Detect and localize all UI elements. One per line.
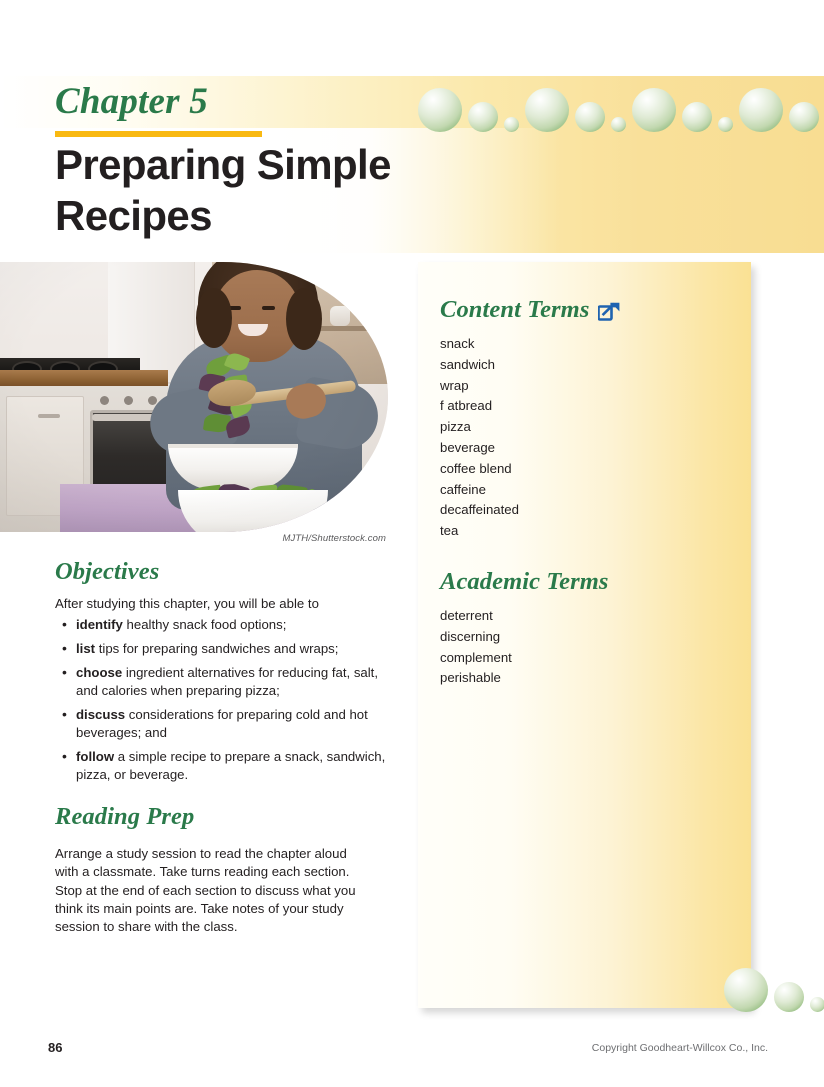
objectives-section: Objectives After studying this chapter, … <box>55 558 395 790</box>
photo-credit: MJTH/Shutterstock.com <box>0 533 386 544</box>
objectives-lead: After studying this chapter, you will be… <box>55 595 395 613</box>
content-terms-heading: Content Terms <box>440 296 589 324</box>
textbook-page: Chapter 5 Preparing Simple Recipes <box>0 0 824 1087</box>
content-term-item: snack <box>440 334 727 355</box>
decorative-bubble <box>774 982 804 1012</box>
decorative-bubble <box>789 102 819 132</box>
chapter-photo-image <box>0 262 388 532</box>
academic-terms-list: deterrentdiscerningcomplementperishable <box>440 606 727 689</box>
decorative-bubble <box>682 102 712 132</box>
content-terms-list: snacksandwichwrapf atbreadpizzabeveragec… <box>440 334 727 542</box>
title-rule <box>55 131 262 137</box>
objective-lead-word: discuss <box>76 707 125 722</box>
content-term-item: sandwich <box>440 355 727 376</box>
academic-term-item: discerning <box>440 627 727 648</box>
photo-vignette <box>0 262 388 532</box>
terms-panel: Content Terms snacksandwichwrapf atbread… <box>418 262 751 1008</box>
decorative-bubble <box>611 117 626 132</box>
academic-term-item: perishable <box>440 668 727 689</box>
reading-prep-heading: Reading Prep <box>55 803 360 831</box>
objective-item: identify healthy snack food options; <box>55 616 395 634</box>
objective-item: choose ingredient alternatives for reduc… <box>55 664 395 701</box>
objective-item: list tips for preparing sandwiches and w… <box>55 640 395 658</box>
objective-lead-word: list <box>76 641 95 656</box>
reading-prep-section: Reading Prep Arrange a study session to … <box>55 803 360 936</box>
decorative-bubble <box>468 102 498 132</box>
decorative-bubble <box>504 117 519 132</box>
content-term-item: tea <box>440 521 727 542</box>
objective-lead-word: identify <box>76 617 123 632</box>
decorative-bubble-row <box>418 82 824 134</box>
content-term-item: pizza <box>440 417 727 438</box>
objective-lead-word: follow <box>76 749 114 764</box>
content-term-item: coffee blend <box>440 459 727 480</box>
objectives-heading: Objectives <box>55 558 395 586</box>
content-terms-header: Content Terms <box>440 296 727 324</box>
content-term-item: f atbread <box>440 396 727 417</box>
decorative-bubble-row-bottom <box>716 962 824 1016</box>
decorative-bubble <box>724 968 768 1012</box>
objective-item: discuss considerations for preparing col… <box>55 706 395 743</box>
objectives-list: identify healthy snack food options;list… <box>55 616 395 784</box>
academic-term-item: complement <box>440 648 727 669</box>
reading-prep-body: Arrange a study session to read the chap… <box>55 845 360 936</box>
decorative-bubble <box>810 997 824 1012</box>
copyright-notice: Copyright Goodheart-Willcox Co., Inc. <box>592 1042 768 1054</box>
decorative-bubble <box>718 117 733 132</box>
objective-item: follow a simple recipe to prepare a snac… <box>55 748 395 785</box>
content-term-item: caffeine <box>440 480 727 501</box>
page-title: Preparing Simple Recipes <box>55 139 485 241</box>
content-term-item: decaffeinated <box>440 500 727 521</box>
academic-term-item: deterrent <box>440 606 727 627</box>
decorative-bubble <box>525 88 569 132</box>
page-number: 86 <box>48 1040 62 1055</box>
decorative-bubble <box>418 88 462 132</box>
objective-lead-word: choose <box>76 665 122 680</box>
academic-terms-heading: Academic Terms <box>440 568 727 596</box>
content-term-item: wrap <box>440 376 727 397</box>
decorative-bubble <box>739 88 783 132</box>
decorative-bubble <box>575 102 605 132</box>
chapter-photo <box>0 262 388 532</box>
decorative-bubble <box>632 88 676 132</box>
external-link-icon[interactable] <box>598 302 620 321</box>
content-term-item: beverage <box>440 438 727 459</box>
chapter-label: Chapter 5 <box>55 80 208 124</box>
